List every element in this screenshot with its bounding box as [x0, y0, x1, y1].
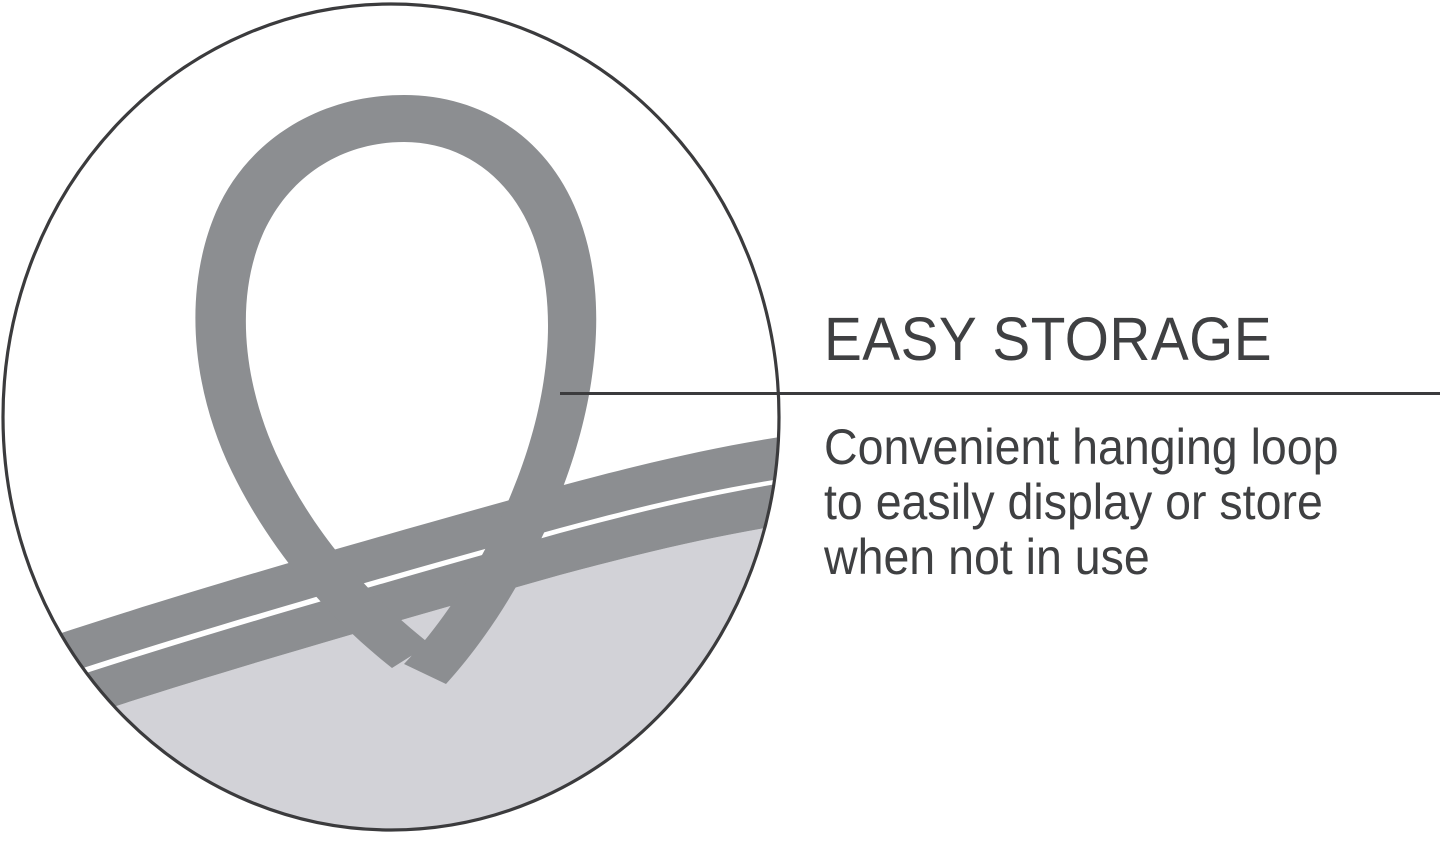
feature-description: Convenient hanging loop to easily displa…: [824, 420, 1405, 585]
feature-title: EASY STORAGE: [824, 306, 1391, 372]
feature-description-line-1: Convenient hanging loop: [824, 420, 1405, 475]
feature-description-line-2: to easily display or store: [824, 475, 1405, 530]
callout-text-block: EASY STORAGE Convenient hanging loop to …: [824, 306, 1434, 372]
feature-callout-page: EASY STORAGE Convenient hanging loop to …: [0, 0, 1445, 841]
feature-description-line-3: when not in use: [824, 530, 1405, 585]
hanging-loop-illustration: [0, 0, 790, 841]
callout-leader-line: [560, 392, 1440, 395]
